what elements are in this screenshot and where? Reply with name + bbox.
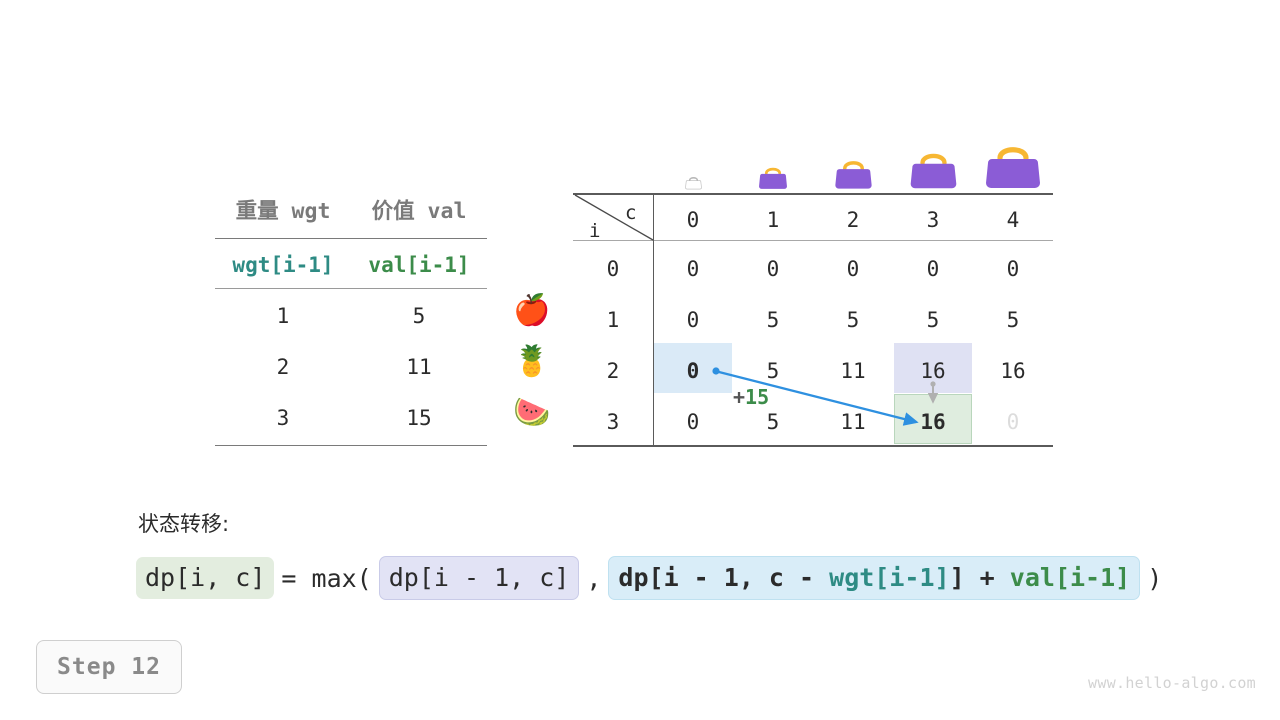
handbag-icon-4 — [973, 138, 1053, 190]
dp-cell-0-3: 0 — [893, 259, 973, 280]
dp-cell-3-3: 16 — [893, 412, 973, 433]
capacity-bag-row — [573, 120, 1053, 190]
formula-comma: , — [579, 566, 608, 591]
dp-cell-2-4: 16 — [973, 361, 1053, 382]
handbag-glyph — [834, 155, 873, 190]
handbag-glyph — [984, 138, 1042, 190]
dp-cell-3-4: 0 — [973, 412, 1053, 433]
handbag-glyph — [685, 174, 702, 190]
diagonal-line-icon — [573, 193, 654, 241]
handbag-glyph — [758, 163, 788, 190]
items-rule-mid — [215, 288, 487, 289]
items-row-3: 3 15 — [215, 408, 487, 429]
formula-arg2-prefix: dp[i - 1, c - — [618, 563, 829, 592]
items-subheader-val: val[i-1] — [351, 255, 487, 276]
items-table: 重量 wgt 价值 val wgt[i-1] val[i-1] 1 5 2 11… — [215, 193, 487, 446]
dp-cell-1-0: 0 — [653, 310, 733, 331]
handbag-icon-3 — [893, 146, 973, 190]
formula-arg2-mid: ] + — [950, 563, 1010, 592]
pineapple-emoji: 🍍 — [505, 347, 559, 377]
dp-cell-3-2: 11 — [813, 412, 893, 433]
handbag-icon-0 — [653, 174, 733, 190]
items-row-2: 2 11 — [215, 357, 487, 378]
dp-table: c i 0123400000010555520511161630511160 — [573, 193, 1053, 447]
transition-label: 状态转移: — [138, 508, 229, 538]
dp-cell-2-2: 11 — [813, 361, 893, 382]
dp-row-header-1: 1 — [573, 310, 653, 331]
dp-corner-label-i: i — [589, 222, 600, 241]
items-subheader-wgt: wgt[i-1] — [215, 255, 351, 276]
item-1-value: 5 — [351, 306, 487, 327]
handbag-icon-2 — [813, 155, 893, 190]
items-row-1: 1 5 — [215, 306, 487, 327]
item-2-weight: 2 — [215, 357, 351, 378]
items-header-weight: 重量 wgt — [215, 201, 351, 223]
dp-cell-2-0: 0 — [653, 361, 733, 382]
dp-corner-diagonal — [573, 193, 654, 241]
items-header-value: 价值 val — [351, 201, 487, 223]
formula-close-paren: ) — [1140, 566, 1169, 591]
formula-arg2: dp[i - 1, c - wgt[i-1]] + val[i-1] — [608, 556, 1140, 600]
dp-row-header-0: 0 — [573, 259, 653, 280]
dp-cell-2-1: 5 — [733, 361, 813, 382]
transition-formula: dp[i, c] = max( dp[i - 1, c] , dp[i - 1,… — [136, 556, 1169, 600]
watermelon-emoji: 🍉 — [505, 398, 559, 428]
items-table-header-row: 重量 wgt 价值 val — [215, 201, 487, 223]
item-3-value: 15 — [351, 408, 487, 429]
item-1-weight: 1 — [215, 306, 351, 327]
item-2-value: 11 — [351, 357, 487, 378]
watermark: www.hello-algo.com — [1088, 674, 1256, 692]
gain-annotation: +15 — [733, 387, 769, 407]
formula-lhs: dp[i, c] — [136, 557, 274, 599]
dp-cell-2-3: 16 — [893, 361, 973, 382]
dp-row-header-2: 2 — [573, 361, 653, 382]
items-rule-top — [215, 238, 487, 239]
dp-cell-3-0: 0 — [653, 412, 733, 433]
item-3-weight: 3 — [215, 408, 351, 429]
dp-cell-3-1: 5 — [733, 412, 813, 433]
dp-cell-0-0: 0 — [653, 259, 733, 280]
dp-cell-1-2: 5 — [813, 310, 893, 331]
step-badge: Step 12 — [36, 640, 182, 694]
gain-value: 15 — [745, 385, 769, 409]
handbag-glyph — [909, 146, 958, 190]
dp-cell-1-3: 5 — [893, 310, 973, 331]
dp-row-header-3: 3 — [573, 412, 653, 433]
formula-arg2-val: val[i-1] — [1010, 563, 1130, 592]
items-table-subheader-row: wgt[i-1] val[i-1] — [215, 255, 487, 276]
dp-col-header-3: 3 — [893, 210, 973, 231]
items-rule-bottom — [215, 445, 487, 446]
dp-cell-1-1: 5 — [733, 310, 813, 331]
slide-canvas: 重量 wgt 价值 val wgt[i-1] val[i-1] 1 5 2 11… — [0, 0, 1280, 720]
formula-arg1: dp[i - 1, c] — [379, 556, 580, 600]
plus-sign: + — [733, 385, 745, 409]
apple-emoji: 🍎 — [505, 296, 559, 326]
dp-cell-0-4: 0 — [973, 259, 1053, 280]
formula-equals-max: = max( — [274, 566, 378, 591]
formula-arg2-wgt: wgt[i-1] — [829, 563, 949, 592]
dp-cell-1-4: 5 — [973, 310, 1053, 331]
dp-col-header-2: 2 — [813, 210, 893, 231]
dp-table-bottom-rule — [573, 445, 1053, 447]
dp-col-header-0: 0 — [653, 210, 733, 231]
dp-col-header-4: 4 — [973, 210, 1053, 231]
dp-col-header-1: 1 — [733, 210, 813, 231]
dp-corner-label-c: c — [625, 204, 636, 223]
dp-cell-0-1: 0 — [733, 259, 813, 280]
dp-cell-0-2: 0 — [813, 259, 893, 280]
handbag-icon-1 — [733, 163, 813, 190]
